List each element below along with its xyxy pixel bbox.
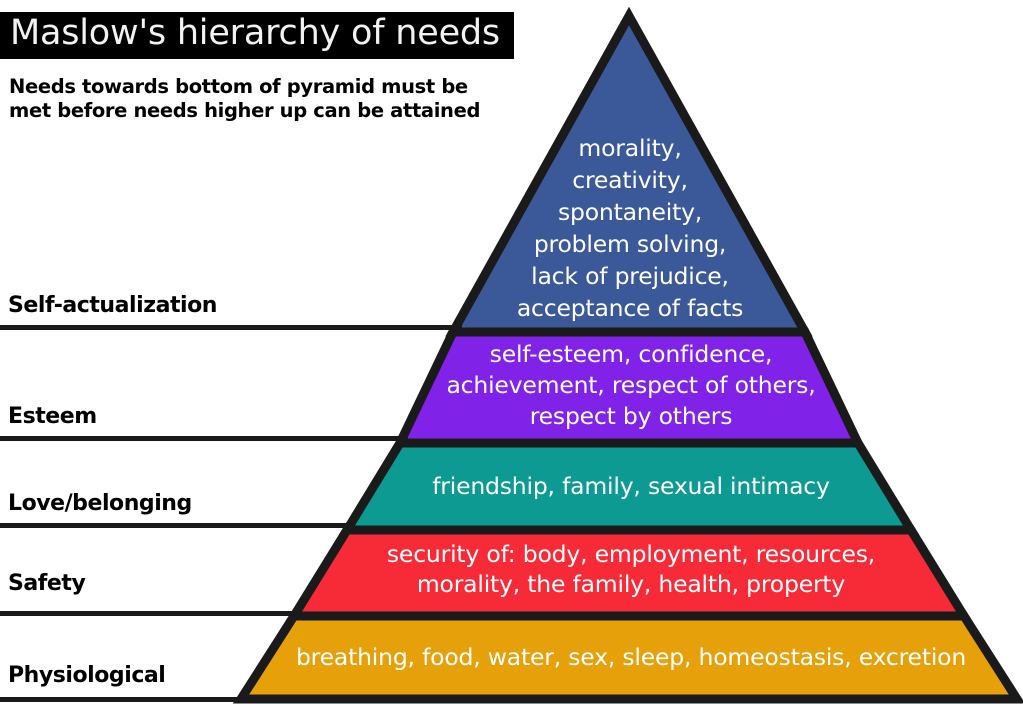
leader-line-love-belonging	[0, 523, 352, 528]
leader-line-physiological	[0, 697, 243, 702]
tier-text-physiological-line-1: breathing, food, water, sex, sleep, home…	[296, 643, 966, 671]
pyramid-tier-safety: security of: body, employment, resources…	[294, 530, 964, 616]
pyramid-tier-love-belonging: friendship, family, sexual intimacy	[347, 443, 911, 530]
subtitle-line-1: Needs towards bottom of pyramid must be	[9, 75, 539, 99]
pyramid-tier-physiological: breathing, food, water, sex, sleep, home…	[241, 616, 1017, 699]
maslow-pyramid-diagram: breathing, food, water, sex, sleep, home…	[0, 0, 1023, 704]
tier-text-esteem-line-2: achievement, respect of others,	[446, 371, 815, 399]
page-title: Maslow's hierarchy of needs	[10, 13, 500, 53]
tier-label-physiological: Physiological	[8, 663, 165, 688]
tier-text-self-actualization-line-2: creativity,	[572, 166, 688, 194]
leader-line-safety	[0, 611, 296, 616]
tier-text-esteem-line-1: self-esteem, confidence,	[490, 340, 773, 368]
tier-text-self-actualization-line-3: spontaneity,	[558, 198, 702, 226]
tier-label-self-actualization: Self-actualization	[8, 293, 217, 318]
subtitle-text: Needs towards bottom of pyramid must be …	[9, 75, 539, 123]
tier-text-self-actualization-line-6: acceptance of facts	[517, 294, 743, 322]
tier-label-love-belonging: Love/belonging	[8, 491, 192, 516]
subtitle-line-2: met before needs higher up can be attain…	[9, 99, 539, 123]
tier-text-self-actualization-line-5: lack of prejudice,	[531, 262, 729, 290]
pyramid-tier-esteem: self-esteem, confidence, achievement, re…	[400, 332, 858, 443]
leader-line-esteem	[0, 436, 408, 441]
title-banner: Maslow's hierarchy of needs	[0, 12, 514, 59]
tier-label-safety: Safety	[8, 571, 85, 596]
tier-text-self-actualization-line-4: problem solving,	[534, 230, 726, 258]
tier-text-love-belonging-line-1: friendship, family, sexual intimacy	[432, 472, 830, 500]
pyramid-tier-self-actualization: morality, creativity, spontaneity, probl…	[453, 16, 805, 332]
tier-text-safety-line-2: morality, the family, health, property	[417, 570, 846, 598]
tier-text-safety-line-1: security of: body, employment, resources…	[387, 540, 875, 568]
leader-line-self-actualization	[0, 325, 462, 330]
tier-text-esteem-line-3: respect by others	[530, 402, 733, 430]
tier-label-esteem: Esteem	[8, 404, 97, 429]
tier-text-self-actualization-line-1: morality,	[578, 134, 681, 162]
